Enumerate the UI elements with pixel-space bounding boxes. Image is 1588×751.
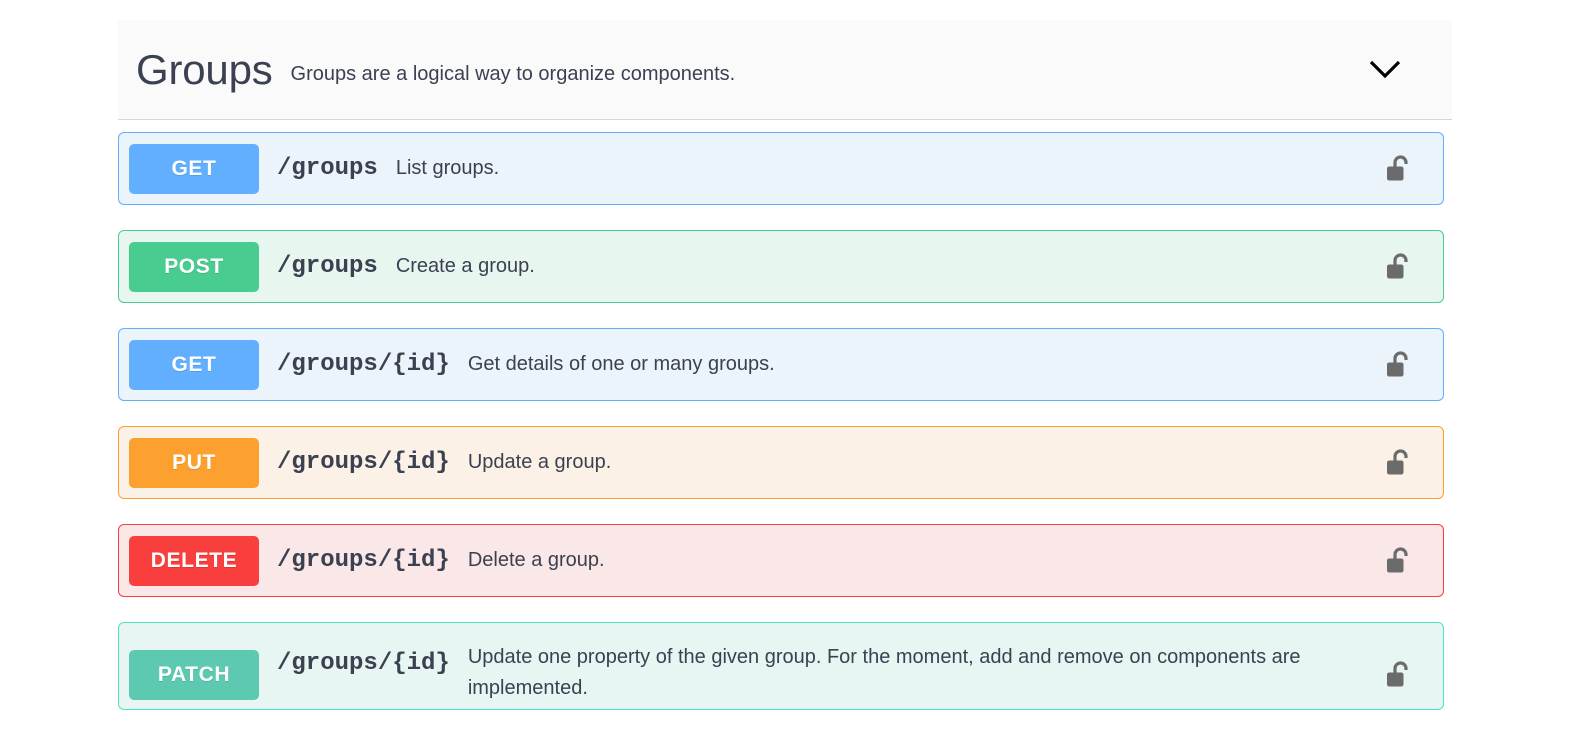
unlocked-padlock-icon [1385, 660, 1411, 690]
endpoint-description: Update a group. [462, 447, 1381, 478]
authorization-button[interactable] [1381, 250, 1415, 284]
operation-summary[interactable]: GET /groups/{id} Get details of one or m… [119, 340, 1443, 390]
operation-summary[interactable]: PUT /groups/{id} Update a group. [119, 438, 1443, 488]
unlocked-padlock-icon [1385, 252, 1411, 282]
http-method-badge: PUT [129, 438, 259, 488]
http-method-badge: GET [129, 340, 259, 390]
http-method-badge: DELETE [129, 536, 259, 586]
http-method-badge: POST [129, 242, 259, 292]
operations-tag-section: Groups Groups are a logical way to organ… [118, 20, 1452, 735]
operation-summary[interactable]: GET /groups List groups. [119, 144, 1443, 194]
endpoint-path: /groups/{id} [259, 351, 462, 378]
unlocked-padlock-icon [1385, 546, 1411, 576]
operations-list: GET /groups List groups. POST /groups C [118, 120, 1452, 710]
http-method-badge: GET [129, 144, 259, 194]
endpoint-path: /groups/{id} [259, 449, 462, 476]
authorization-button[interactable] [1381, 152, 1415, 186]
unlocked-padlock-icon [1385, 448, 1411, 478]
endpoint-description: Get details of one or many groups. [462, 349, 1381, 380]
tag-description: Groups are a logical way to organize com… [291, 53, 736, 86]
endpoint-path: /groups/{id} [259, 650, 462, 677]
authorization-button[interactable] [1381, 348, 1415, 382]
endpoint-description: Create a group. [390, 251, 1381, 282]
unlocked-padlock-icon [1385, 350, 1411, 380]
page-title: Groups [136, 49, 273, 91]
chevron-down-icon [1368, 59, 1402, 81]
endpoint-path: /groups [259, 155, 390, 182]
expand-collapse-button[interactable] [1364, 49, 1406, 91]
operation-row[interactable]: DELETE /groups/{id} Delete a group. [118, 524, 1444, 597]
authorization-button[interactable] [1381, 544, 1415, 578]
authorization-button[interactable] [1381, 446, 1415, 480]
http-method-badge: PATCH [129, 650, 259, 700]
operation-row[interactable]: PUT /groups/{id} Update a group. [118, 426, 1444, 499]
endpoint-description: Update one property of the given group. … [462, 636, 1381, 704]
operation-row[interactable]: GET /groups/{id} Get details of one or m… [118, 328, 1444, 401]
operation-summary[interactable]: POST /groups Create a group. [119, 242, 1443, 292]
endpoint-description: Delete a group. [462, 545, 1381, 576]
operation-summary[interactable]: DELETE /groups/{id} Delete a group. [119, 536, 1443, 586]
operation-row[interactable]: POST /groups Create a group. [118, 230, 1444, 303]
operation-row[interactable]: GET /groups List groups. [118, 132, 1444, 205]
authorization-button[interactable] [1381, 658, 1415, 692]
operation-summary[interactable]: PATCH /groups/{id} Update one property o… [119, 628, 1443, 704]
endpoint-path: /groups/{id} [259, 547, 462, 574]
endpoint-description: List groups. [390, 153, 1381, 184]
unlocked-padlock-icon [1385, 154, 1411, 184]
endpoint-path: /groups [259, 253, 390, 280]
tag-header-groups[interactable]: Groups Groups are a logical way to organ… [118, 20, 1452, 120]
operation-row[interactable]: PATCH /groups/{id} Update one property o… [118, 622, 1444, 710]
